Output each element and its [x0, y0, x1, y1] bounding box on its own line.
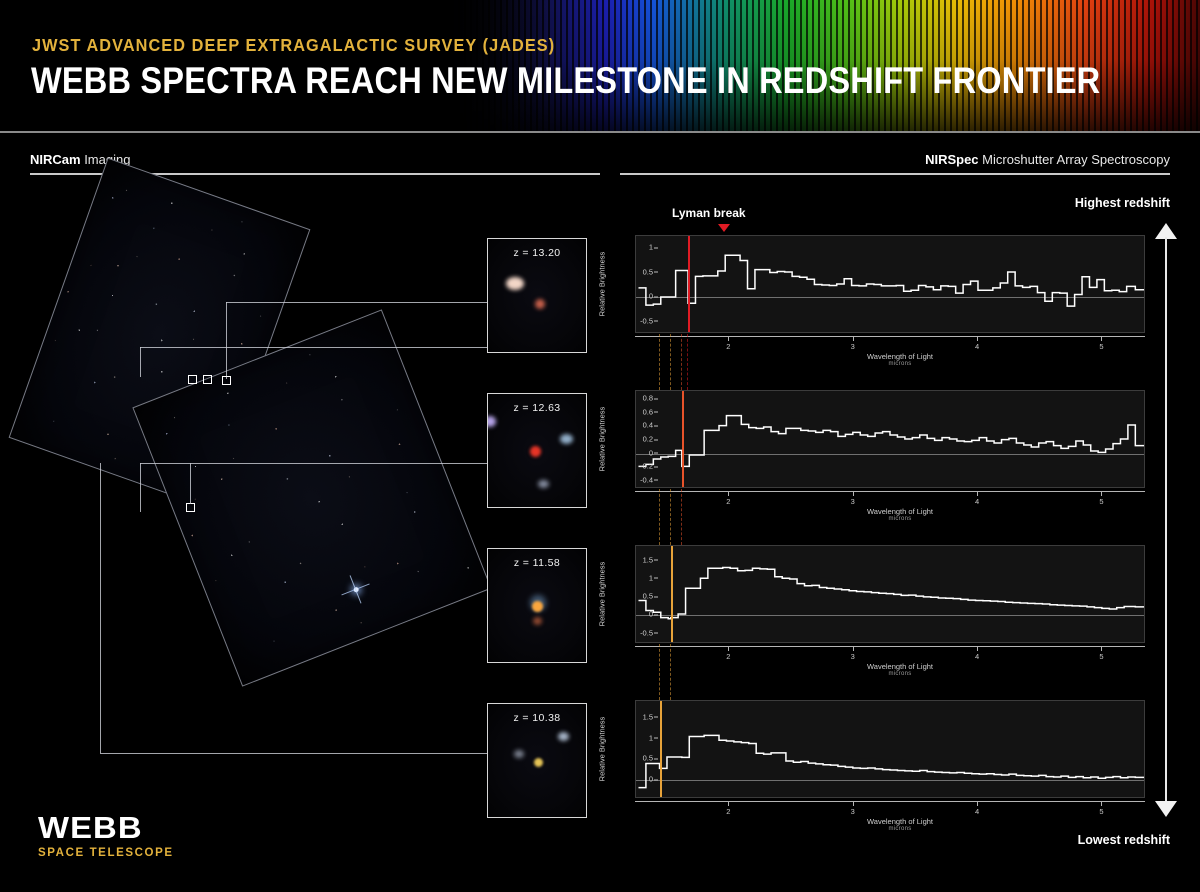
diffraction-spike-star — [336, 570, 375, 609]
x-axis-tick-label: 3 — [851, 807, 855, 816]
webb-logo: WEBB SPACE TELESCOPE — [38, 812, 174, 859]
section-rule-right — [620, 173, 1170, 175]
y-axis-tick-label: 0 — [649, 448, 653, 457]
galaxy-source — [533, 617, 542, 625]
y-axis-tick-label: 0 — [649, 775, 653, 784]
x-axis-tick-label: 4 — [975, 807, 979, 816]
source-marker-box[interactable] — [186, 503, 195, 512]
galaxy-source — [560, 434, 573, 444]
galaxy-source — [530, 446, 541, 457]
galaxy-source — [538, 480, 549, 488]
lyman-break-line — [660, 701, 662, 797]
spectrum-plot-area[interactable] — [635, 390, 1145, 488]
x-axis-tick-label: 4 — [975, 652, 979, 661]
spectrum-block: 0.80.60.40.20-0.2-0.4Relative Brightness… — [600, 390, 1200, 520]
y-axis-tick-label: 0.8 — [643, 394, 653, 403]
x-axis-tick — [977, 336, 978, 341]
x-axis-tick-label: 3 — [851, 652, 855, 661]
x-axis-tick-label: 4 — [975, 342, 979, 351]
leader-line — [140, 463, 141, 464]
y-axis-tick-label: 0.2 — [643, 435, 653, 444]
y-axis-tick-label: -0.4 — [640, 475, 653, 484]
redshift-label: z = 12.63 — [488, 402, 586, 414]
x-axis-tick-label: 3 — [851, 342, 855, 351]
spectrum-trace — [636, 701, 1144, 797]
lyman-break-connector — [670, 489, 671, 545]
y-axis-label: Relative Brightness — [598, 546, 607, 642]
spectrum-trace — [636, 391, 1144, 487]
leader-line — [140, 464, 141, 512]
page-title: WEBB SPECTRA REACH NEW MILESTONE IN REDS… — [31, 60, 1100, 102]
galaxy-source — [534, 758, 543, 767]
axis-shaft — [1165, 237, 1167, 802]
leader-line — [315, 347, 487, 348]
y-axis-tick-label: -0.5 — [640, 628, 653, 637]
leader-line — [100, 463, 101, 753]
lyman-break-connector — [659, 489, 660, 545]
spectrum-trace — [636, 236, 1144, 332]
x-axis-line — [635, 646, 1145, 647]
y-axis-tick-label: 0 — [649, 610, 653, 619]
lyman-break-connector — [659, 644, 660, 700]
spectrum-block: 1.510.50Relative Brightness2345Wavelengt… — [600, 700, 1200, 830]
header-divider — [0, 131, 1200, 133]
leader-line — [226, 302, 227, 379]
x-axis-tick-label: 5 — [1099, 807, 1103, 816]
leader-line — [100, 753, 487, 754]
x-axis-tick-label: 2 — [726, 652, 730, 661]
lyman-break-line — [671, 546, 673, 642]
x-axis-tick — [853, 491, 854, 496]
y-axis-tick-label: 1.5 — [643, 555, 653, 564]
redshift-direction-axis — [1152, 195, 1200, 845]
y-axis-label: Relative Brightness — [598, 236, 607, 332]
logo-tagline: SPACE TELESCOPE — [38, 847, 174, 859]
redshift-label: z = 13.20 — [488, 247, 586, 259]
y-axis-tick-label: 1 — [649, 733, 653, 742]
redshift-label: z = 11.58 — [488, 557, 586, 569]
y-axis-tick-label: 0.5 — [643, 754, 653, 763]
spectrum-block: 10.50-0.5Relative Brightness2345Waveleng… — [600, 235, 1200, 365]
x-axis-unit-label: microns — [600, 361, 1200, 367]
x-axis-label: Wavelength of Light — [600, 817, 1200, 826]
x-axis-label: Wavelength of Light — [600, 662, 1200, 671]
galaxy-thumbnail[interactable]: z = 12.63 — [487, 393, 587, 508]
y-axis-tick-label: 0.4 — [643, 421, 653, 430]
lyman-break-callout-label: Lyman break — [672, 206, 746, 220]
galaxy-source — [532, 601, 543, 612]
x-axis-tick — [977, 491, 978, 496]
nirspec-spectra-panel: 10.50-0.5Relative Brightness2345Waveleng… — [600, 180, 1200, 840]
galaxy-thumbnail[interactable]: z = 11.58 — [487, 548, 587, 663]
x-axis-tick — [1101, 336, 1102, 341]
galaxy-source — [506, 277, 524, 290]
infographic-root: JWST ADVANCED DEEP EXTRAGALACTIC SURVEY … — [0, 0, 1200, 892]
section-label-nirspec: NIRSpec Microshutter Array Spectroscopy — [925, 152, 1170, 167]
x-axis-tick — [853, 801, 854, 806]
lyman-break-connector — [670, 334, 671, 390]
lyman-break-connector — [670, 644, 671, 700]
y-axis-tick-label: 1.5 — [643, 712, 653, 721]
x-axis-line — [635, 801, 1145, 802]
x-axis-line — [635, 491, 1145, 492]
lyman-break-connector — [681, 489, 682, 545]
redshift-label: z = 10.38 — [488, 712, 586, 724]
spectrum-plot-area[interactable] — [635, 235, 1145, 333]
section-label-nirspec-rest: Microshutter Array Spectroscopy — [979, 152, 1170, 167]
x-axis-tick-label: 3 — [851, 497, 855, 506]
leader-line — [112, 295, 113, 296]
section-label-nircam-bold: NIRCam — [30, 152, 81, 167]
x-axis-unit-label: microns — [600, 671, 1200, 677]
x-axis-tick-label: 5 — [1099, 652, 1103, 661]
galaxy-source — [487, 416, 496, 427]
lyman-break-line — [682, 391, 684, 487]
leader-line — [226, 302, 487, 303]
y-axis-tick-label: 0.5 — [643, 592, 653, 601]
source-marker-box[interactable] — [222, 376, 231, 385]
x-axis-tick-label: 4 — [975, 497, 979, 506]
header-banner: JWST ADVANCED DEEP EXTRAGALACTIC SURVEY … — [0, 0, 1200, 132]
source-marker-box[interactable] — [188, 375, 197, 384]
x-axis-tick — [728, 801, 729, 806]
lyman-break-arrow-icon — [718, 224, 730, 232]
y-axis-tick-label: 1 — [649, 243, 653, 252]
x-axis-tick-label: 5 — [1099, 497, 1103, 506]
leader-line — [140, 347, 315, 348]
y-axis-tick-label: 1 — [649, 573, 653, 582]
x-axis-tick — [728, 491, 729, 496]
section-label-nirspec-bold: NIRSpec — [925, 152, 978, 167]
y-axis-tick-label: 0.5 — [643, 267, 653, 276]
galaxy-source — [514, 750, 524, 758]
x-axis-tick — [853, 336, 854, 341]
x-axis-label: Wavelength of Light — [600, 352, 1200, 361]
x-axis-tick — [977, 801, 978, 806]
x-axis-line — [635, 336, 1145, 337]
y-axis-label: Relative Brightness — [598, 391, 607, 487]
spectrum-plot-area[interactable] — [635, 700, 1145, 798]
galaxy-thumbnail[interactable]: z = 10.38 — [487, 703, 587, 818]
x-axis-tick — [853, 646, 854, 651]
x-axis-tick — [977, 646, 978, 651]
spectrum-block: 1.510.50-0.5Relative Brightness2345Wavel… — [600, 545, 1200, 675]
y-axis-tick-label: -0.5 — [640, 316, 653, 325]
y-axis-tick-label: -0.2 — [640, 462, 653, 471]
x-axis-unit-label: microns — [600, 826, 1200, 832]
x-axis-tick — [1101, 646, 1102, 651]
leader-line — [140, 463, 487, 464]
y-axis-tick-label: 0 — [649, 292, 653, 301]
galaxy-thumbnail[interactable]: z = 13.20 — [487, 238, 587, 353]
spectrum-trace — [636, 546, 1144, 642]
x-axis-tick-label: 5 — [1099, 342, 1103, 351]
lyman-break-connector — [681, 334, 682, 390]
survey-kicker: JWST ADVANCED DEEP EXTRAGALACTIC SURVEY … — [32, 35, 555, 56]
arrow-down-icon — [1155, 801, 1177, 817]
leader-line — [195, 466, 196, 467]
spectrum-plot-area[interactable] — [635, 545, 1145, 643]
lyman-break-connector — [687, 334, 688, 390]
x-axis-tick-label: 2 — [726, 807, 730, 816]
x-axis-tick — [1101, 801, 1102, 806]
lyman-break-connector — [659, 334, 660, 390]
galaxy-source — [558, 732, 569, 741]
leader-line — [190, 463, 191, 504]
galaxy-source — [535, 299, 545, 309]
y-axis-tick-label: 0.6 — [643, 407, 653, 416]
x-axis-tick — [1101, 491, 1102, 496]
x-axis-tick — [728, 336, 729, 341]
y-axis-label: Relative Brightness — [598, 701, 607, 797]
x-axis-unit-label: microns — [600, 516, 1200, 522]
x-axis-tick — [728, 646, 729, 651]
leader-line — [140, 347, 141, 377]
x-axis-tick-label: 2 — [726, 497, 730, 506]
source-marker-box[interactable] — [203, 375, 212, 384]
x-axis-tick-label: 2 — [726, 342, 730, 351]
lyman-break-line — [688, 236, 690, 332]
x-axis-label: Wavelength of Light — [600, 507, 1200, 516]
logo-wordmark: WEBB — [38, 812, 182, 843]
